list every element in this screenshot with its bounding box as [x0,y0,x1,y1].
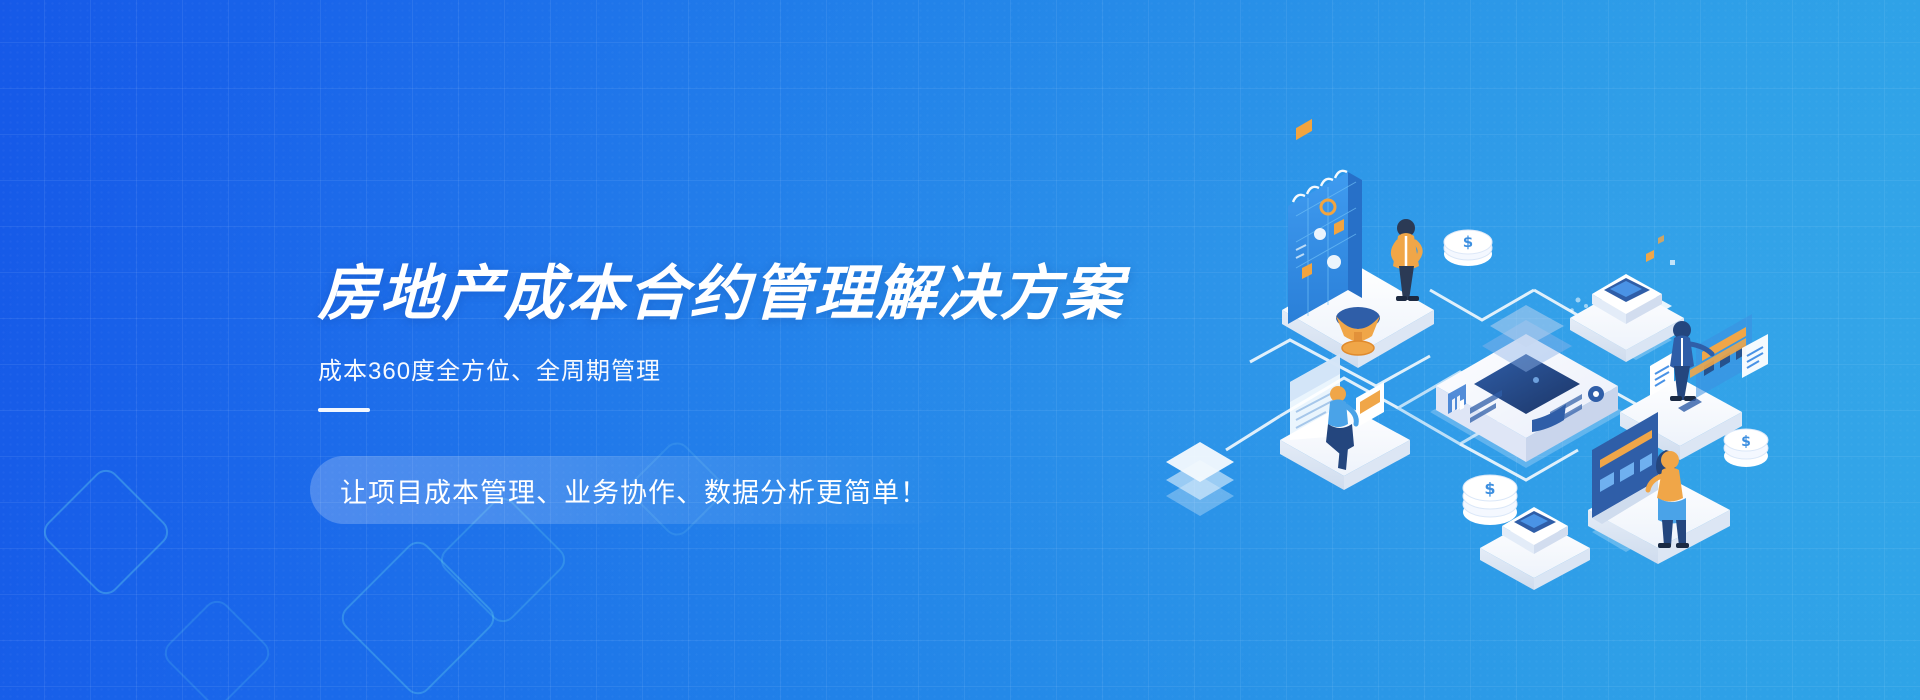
tagline-pill: 让项目成本管理、业务协作、数据分析更简单！ [310,456,950,524]
document-platform [1280,354,1410,490]
title-divider [318,408,370,412]
hero-copy: 房地产成本合约管理解决方案 成本360度全方位、全周期管理 让项目成本管理、业务… [318,262,1178,412]
layered-diamond-sheets [1166,442,1234,516]
svg-text:$: $ [1484,479,1495,498]
trophy [1336,307,1380,355]
coin-stack: $ [1724,429,1768,467]
floating-cube-platform [1570,235,1684,362]
svg-text:$: $ [1741,434,1751,450]
page-subtitle: 成本360度全方位、全周期管理 [318,351,1178,386]
coin-stack: $ [1444,230,1492,266]
page-title: 房地产成本合约管理解决方案 [317,262,1178,327]
tagline-text: 让项目成本管理、业务协作、数据分析更简单！ [310,471,928,510]
calendar-platform [1282,119,1434,368]
coin-stack: $ [1463,475,1517,525]
isometric-illustration: $ [1130,150,1790,570]
svg-text:$: $ [1463,233,1473,251]
hero-banner: 房地产成本合约管理解决方案 成本360度全方位、全周期管理 让项目成本管理、业务… [0,0,1920,700]
